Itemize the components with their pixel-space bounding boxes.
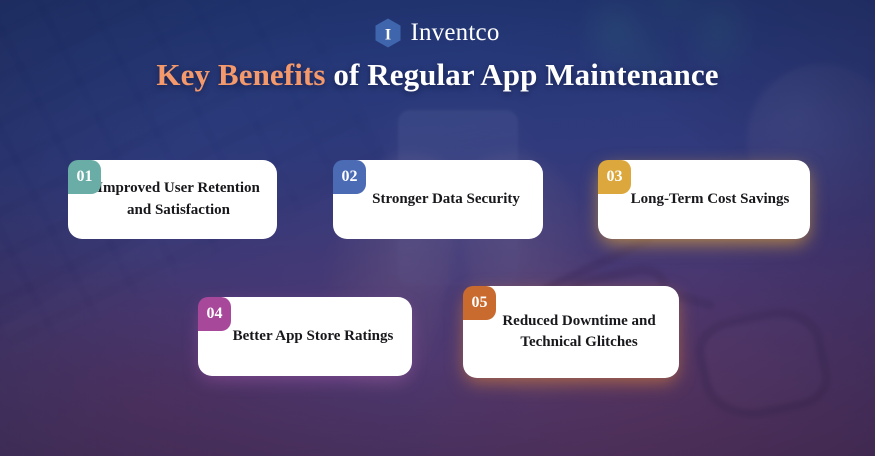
page-title: Key Benefits of Regular App Maintenance: [0, 57, 875, 93]
benefit-card[interactable]: 02 Stronger Data Security: [333, 160, 543, 239]
benefit-card-title: Better App Store Ratings: [203, 326, 408, 347]
page-title-rest: of Regular App Maintenance: [326, 57, 719, 92]
hexagon-logo-icon: I: [375, 18, 401, 48]
benefit-card-badge: 02: [333, 160, 366, 194]
benefit-card-title: Reduced Downtime and Technical Glitches: [463, 311, 679, 354]
page-title-accent: Key Benefits: [156, 57, 325, 92]
benefit-card-badge: 03: [598, 160, 631, 194]
benefit-card-badge: 04: [198, 297, 231, 331]
benefit-card[interactable]: 01 Improved User Retention and Satisfact…: [68, 160, 277, 239]
benefit-card[interactable]: 04 Better App Store Ratings: [198, 297, 412, 376]
benefit-card-title: Long-Term Cost Savings: [605, 189, 804, 210]
hexagon-logo-letter: I: [385, 27, 391, 44]
benefit-card[interactable]: 05 Reduced Downtime and Technical Glitch…: [463, 286, 679, 378]
benefit-card-badge: 05: [463, 286, 496, 320]
slide-content: I Inventco Key Benefits of Regular App M…: [0, 0, 875, 456]
brand-lockup: I Inventco: [0, 18, 875, 48]
brand-name: Inventco: [410, 19, 499, 47]
benefit-card[interactable]: 03 Long-Term Cost Savings: [598, 160, 810, 239]
benefit-card-badge: 01: [68, 160, 101, 194]
benefit-card-title: Stronger Data Security: [342, 189, 534, 210]
